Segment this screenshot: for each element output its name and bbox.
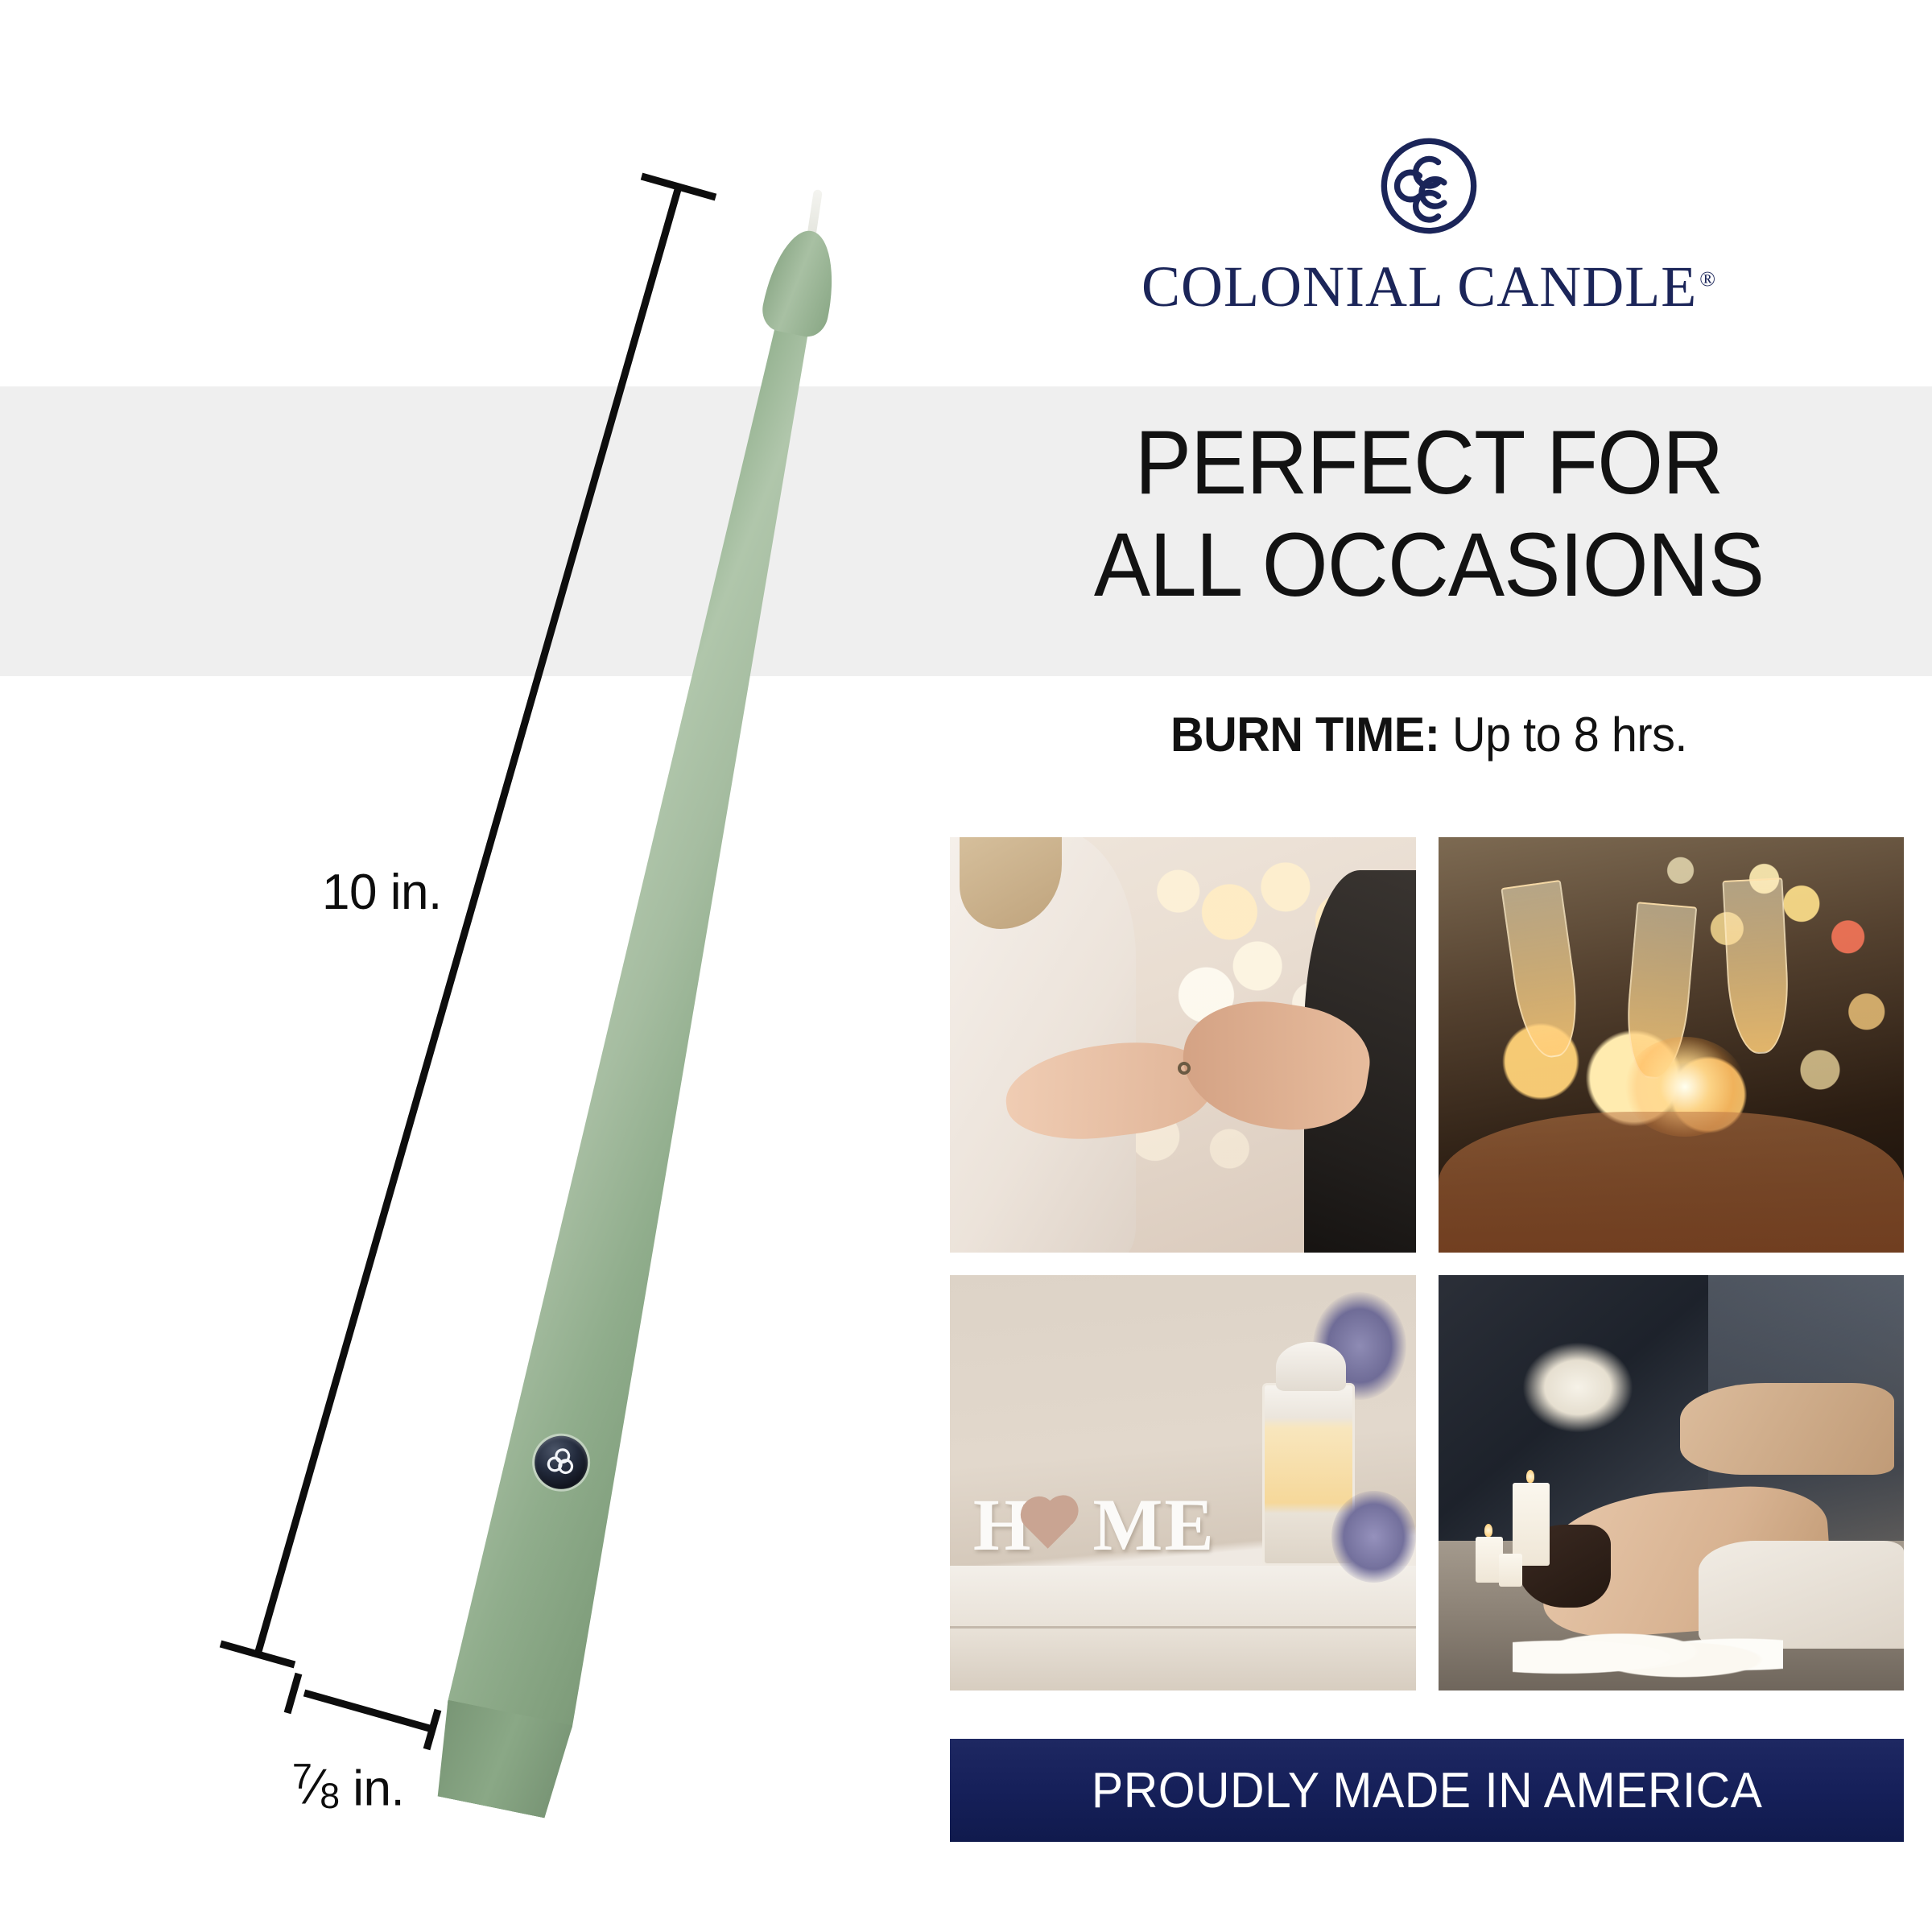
home-sign-text: H ME [973, 1488, 1216, 1562]
pillar-candle [1499, 1554, 1522, 1587]
photo-home-decor: H ME [950, 1275, 1416, 1690]
champagne-flute [1723, 877, 1792, 1055]
white-orchids [1513, 1624, 1783, 1690]
page-title: PERFECT FOR ALL OCCASIONS [956, 412, 1902, 616]
brand-name-text: COLONIAL CANDLE [1141, 254, 1697, 319]
brand-wordmark: COLONIAL CANDLE® [1141, 258, 1716, 316]
holding-hands [1439, 1112, 1905, 1253]
product-image-panel: 10 in. 7⁄8 in. [0, 0, 926, 1932]
lavender-sprigs [1331, 1491, 1415, 1583]
headline-line-1: PERFECT FOR [956, 412, 1902, 514]
lantern-top [1276, 1342, 1346, 1392]
width-dimension-label: 7⁄8 in. [292, 1759, 404, 1818]
lifestyle-photo-grid: H ME [950, 837, 1904, 1690]
made-in-america-text: PROUDLY MADE IN AMERICA [1092, 1762, 1763, 1819]
brand-logo-block: COLONIAL CANDLE® [926, 135, 1932, 316]
champagne-flute [1501, 880, 1585, 1061]
candle-flame-icon [1484, 1524, 1492, 1537]
ccc-monogram-circle-icon [1378, 135, 1480, 237]
wedding-ring-icon [1178, 1062, 1191, 1075]
photo-spa-relaxation [1439, 1275, 1905, 1690]
fraction-slash: ⁄ [312, 1760, 320, 1815]
marketing-content-panel: COLONIAL CANDLE® PERFECT FOR ALL OCCASIO… [926, 0, 1932, 1932]
headline-line-2: ALL OCCASIONS [956, 514, 1902, 617]
fraction-denominator: 8 [320, 1777, 339, 1816]
burn-time-label: BURN TIME: [1170, 708, 1439, 762]
made-in-america-banner: PROUDLY MADE IN AMERICA [950, 1739, 1904, 1842]
man-reclining [1680, 1383, 1894, 1475]
registered-trademark-symbol: ® [1699, 267, 1716, 291]
photo-sparkler-toast [1439, 837, 1905, 1253]
shelf-edge [950, 1626, 1416, 1629]
orchid-arrangement [1522, 1342, 1634, 1434]
candle-flame-icon [1526, 1470, 1534, 1483]
candle-tip [758, 225, 844, 341]
burn-time-row: BURN TIME: Up to 8 hrs. [946, 707, 1912, 762]
burn-time-value: Up to 8 hrs. [1452, 708, 1687, 762]
photo-wedding-rings [950, 837, 1416, 1253]
width-unit: in. [340, 1761, 405, 1817]
fraction-numerator: 7 [292, 1757, 312, 1797]
length-dimension-label: 10 in. [322, 864, 442, 921]
